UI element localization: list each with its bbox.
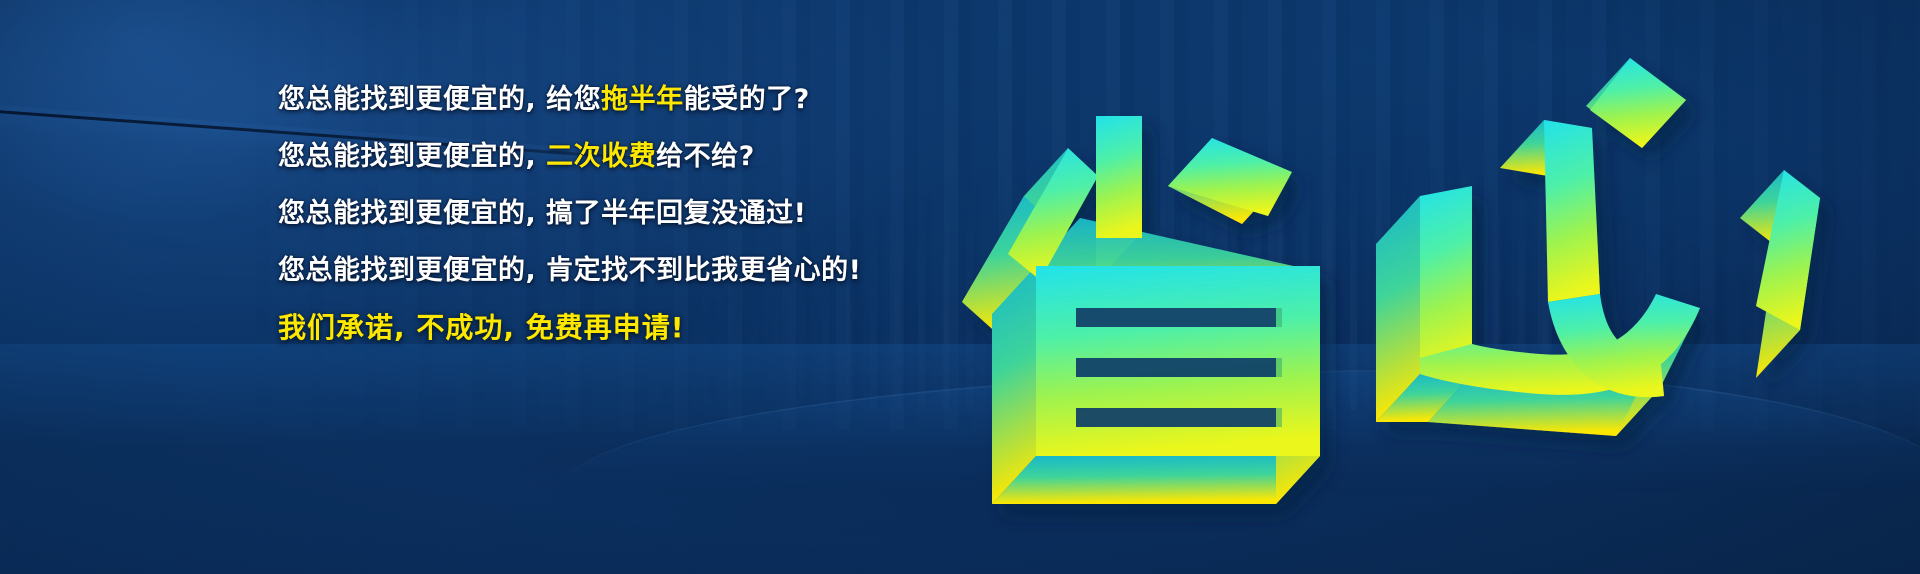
copy-line-1-highlight: 拖半年 [601, 84, 684, 115]
copy-line-2: 您总能找到更便宜的, 二次收费给不给? [278, 143, 918, 170]
hero-char-xin [1376, 58, 1820, 436]
promo-banner: 您总能找到更便宜的, 给您拖半年能受的了? 您总能找到更便宜的, 二次收费给不给… [0, 0, 1920, 574]
copy-line-2-highlight: 二次收费 [546, 141, 656, 172]
marketing-copy-block: 您总能找到更便宜的, 给您拖半年能受的了? 您总能找到更便宜的, 二次收费给不给… [278, 86, 918, 342]
copy-line-1-prefix: 您总能找到更便宜的, 给您 [278, 84, 601, 115]
hero-3d-svg [900, 58, 1910, 458]
copy-line-2-suffix: 给不给? [656, 141, 755, 172]
copy-line-2-prefix: 您总能找到更便宜的, [278, 141, 546, 172]
copy-line-4: 您总能找到更便宜的, 肯定找不到比我更省心的! [278, 257, 918, 284]
hero-char-sheng-slots [1076, 308, 1282, 427]
hero-3d-word [900, 58, 1910, 458]
copy-line-3-text: 您总能找到更便宜的, 搞了半年回复没通过! [278, 198, 806, 229]
copy-line-3: 您总能找到更便宜的, 搞了半年回复没通过! [278, 200, 918, 227]
copy-line-1: 您总能找到更便宜的, 给您拖半年能受的了? [278, 86, 918, 113]
copy-promise-line: 我们承诺, 不成功, 免费再申请! [278, 314, 918, 342]
hero-char-sheng [962, 116, 1320, 504]
copy-promise-text: 我们承诺, 不成功, 免费再申请! [278, 311, 685, 344]
copy-line-4-text: 您总能找到更便宜的, 肯定找不到比我更省心的! [278, 255, 861, 286]
copy-line-1-suffix: 能受的了? [684, 84, 810, 115]
